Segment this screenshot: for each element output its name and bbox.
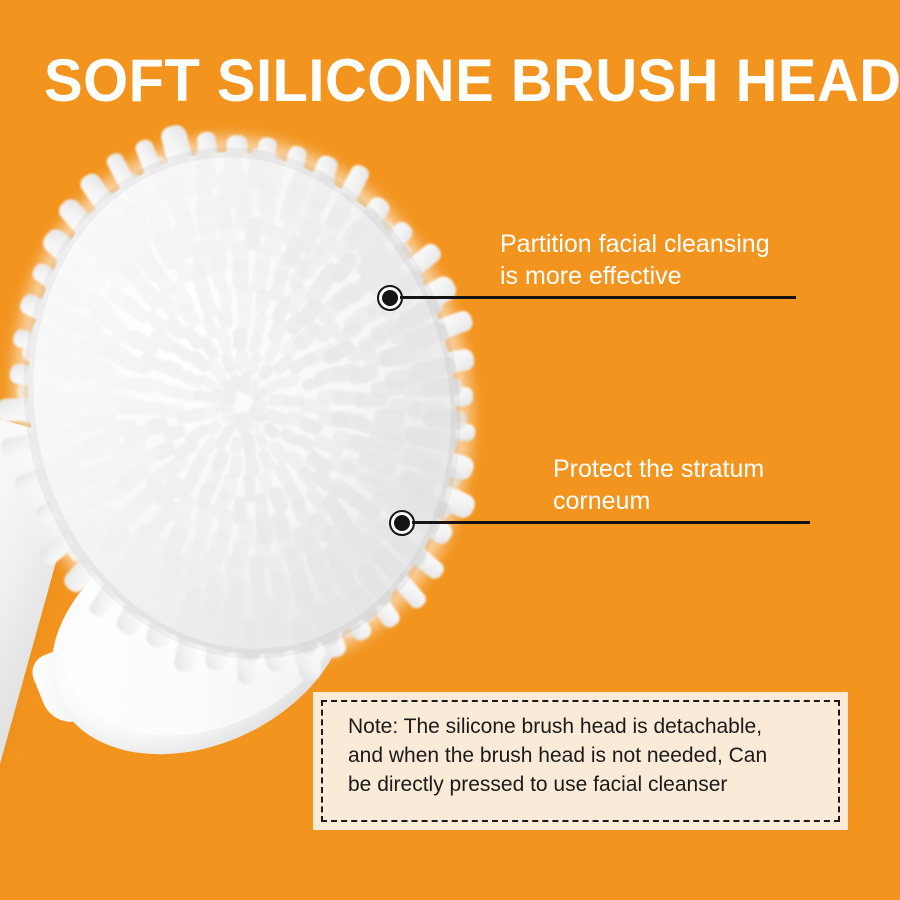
silicone-brush-head [0, 88, 527, 727]
callout-leader-line-2 [412, 521, 810, 524]
note-panel: Note: The silicone brush head is detacha… [313, 692, 848, 830]
callout-leader-line-1 [400, 296, 796, 299]
product-infographic: SOFT SILICONE BRUSH HEAD [0, 0, 900, 900]
callout-label-2: Protect the stratum corneum [553, 453, 863, 517]
page-title: SOFT SILICONE BRUSH HEAD [44, 50, 830, 112]
callout-label-1: Partition facial cleansing is more effec… [500, 228, 830, 292]
note-text: Note: The silicone brush head is detacha… [348, 712, 818, 799]
